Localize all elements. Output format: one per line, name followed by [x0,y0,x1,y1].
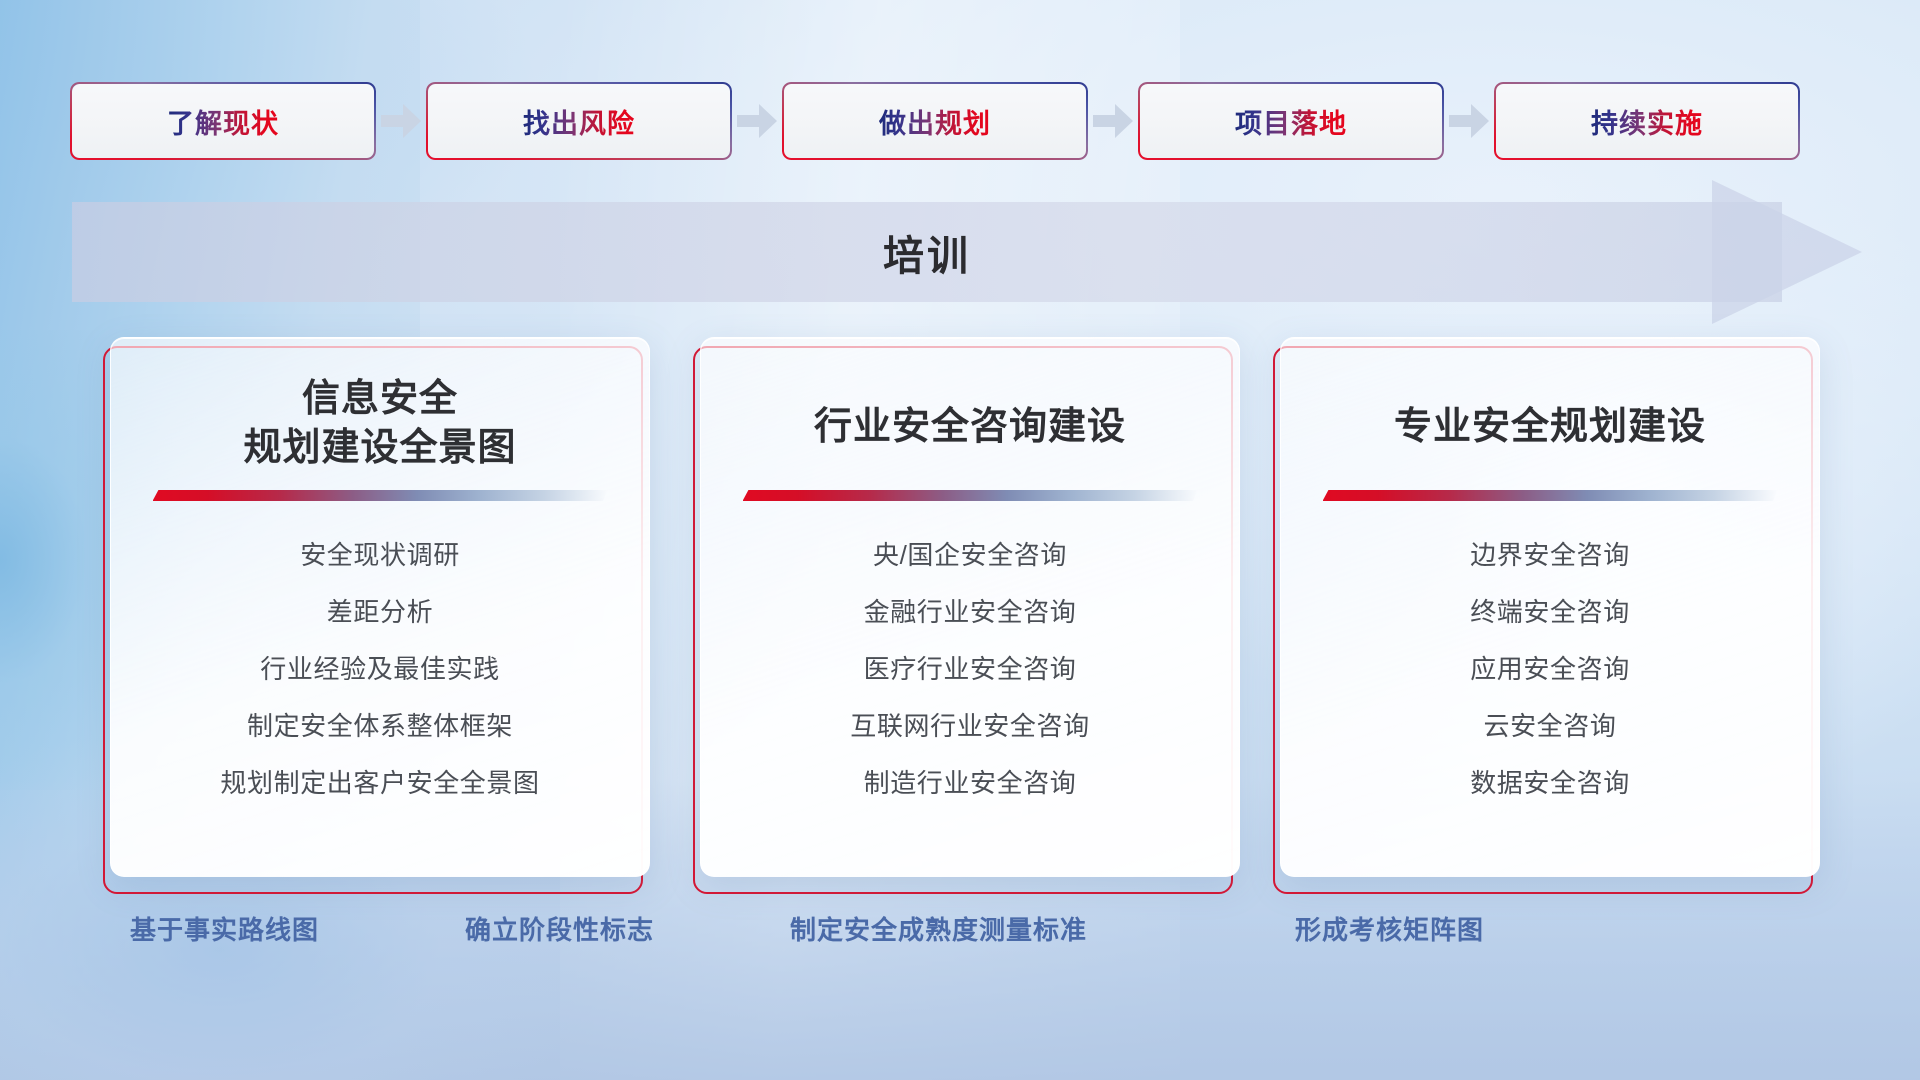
arrow-right-icon-1 [374,84,428,158]
arrow-right-icon-4 [1442,84,1496,158]
footer-label-2: 确立阶段性标志 [465,910,654,947]
step-chip-3[interactable]: 做出规划 [784,84,1086,158]
list-item: 央/国企安全咨询 [873,535,1067,572]
card-2-list: 央/国企安全咨询 金融行业安全咨询 医疗行业安全咨询 互联网行业安全咨询 制造行… [735,535,1205,800]
list-item: 行业经验及最佳实践 [260,649,499,686]
footer-label-1: 基于事实路线图 [130,910,319,947]
process-steps-row: 了解现状 找出风险 做出规划 项目落地 持续实施 [0,80,1920,162]
step-label-2: 找出风险 [523,102,635,141]
banner-title: 培训 [72,202,1782,302]
list-item: 互联网行业安全咨询 [850,706,1089,743]
card-2-divider [743,490,1198,501]
step-chip-5[interactable]: 持续实施 [1496,84,1798,158]
card-3-divider [1323,490,1778,501]
footer-label-4: 形成考核矩阵图 [1295,910,1484,947]
list-item: 云安全咨询 [1483,706,1616,743]
card-1-divider [153,490,608,501]
step-chip-1[interactable]: 了解现状 [72,84,374,158]
arrow-right-icon-2 [730,84,784,158]
footer-labels: 基于事实路线图 确立阶段性标志 制定安全成熟度测量标准 形成考核矩阵图 [0,910,1920,970]
list-item: 金融行业安全咨询 [864,592,1077,629]
card-2-title: 行业安全咨询建设 [814,372,1126,476]
card-1-list: 安全现状调研 差距分析 行业经验及最佳实践 制定安全体系整体框架 规划制定出客户… [145,535,615,800]
step-label-4: 项目落地 [1235,102,1347,141]
card-3-title: 专业安全规划建设 [1394,372,1706,476]
card-1-surface[interactable]: 信息安全 规划建设全景图 安全现状调研 差距分析 行业经验及最佳实践 制定安全体… [110,337,650,877]
list-item: 数据安全咨询 [1470,763,1630,800]
arrow-right-icon-3 [1086,84,1140,158]
card-3[interactable]: 专业安全规划建设 边界安全咨询 终端安全咨询 应用安全咨询 云安全咨询 数据安全… [1280,337,1820,885]
list-item: 应用安全咨询 [1470,649,1630,686]
list-item: 规划制定出客户安全全景图 [220,763,539,800]
training-banner: 培训 [72,202,1862,302]
card-1-title-line1: 信息安全 [302,378,458,420]
list-item: 安全现状调研 [300,535,460,572]
step-chip-4[interactable]: 项目落地 [1140,84,1442,158]
list-item: 终端安全咨询 [1470,592,1630,629]
list-item: 差距分析 [327,592,433,629]
step-label-1: 了解现状 [167,102,279,141]
list-item: 制造行业安全咨询 [864,763,1077,800]
card-1[interactable]: 信息安全 规划建设全景图 安全现状调研 差距分析 行业经验及最佳实践 制定安全体… [110,337,650,885]
list-item: 制定安全体系整体框架 [247,706,513,743]
list-item: 边界安全咨询 [1470,535,1630,572]
list-item: 医疗行业安全咨询 [864,649,1077,686]
card-2[interactable]: 行业安全咨询建设 央/国企安全咨询 金融行业安全咨询 医疗行业安全咨询 互联网行… [700,337,1240,885]
card-1-title: 信息安全 规划建设全景图 [243,372,516,476]
card-2-surface[interactable]: 行业安全咨询建设 央/国企安全咨询 金融行业安全咨询 医疗行业安全咨询 互联网行… [700,337,1240,877]
step-chip-2[interactable]: 找出风险 [428,84,730,158]
cards-row: 信息安全 规划建设全景图 安全现状调研 差距分析 行业经验及最佳实践 制定安全体… [0,337,1920,897]
card-3-list: 边界安全咨询 终端安全咨询 应用安全咨询 云安全咨询 数据安全咨询 [1315,535,1785,800]
footer-label-3: 制定安全成熟度测量标准 [790,910,1087,947]
card-1-title-line2: 规划建设全景图 [243,427,516,469]
card-3-surface[interactable]: 专业安全规划建设 边界安全咨询 终端安全咨询 应用安全咨询 云安全咨询 数据安全… [1280,337,1820,877]
step-label-5: 持续实施 [1591,102,1703,141]
step-label-3: 做出规划 [879,102,991,141]
